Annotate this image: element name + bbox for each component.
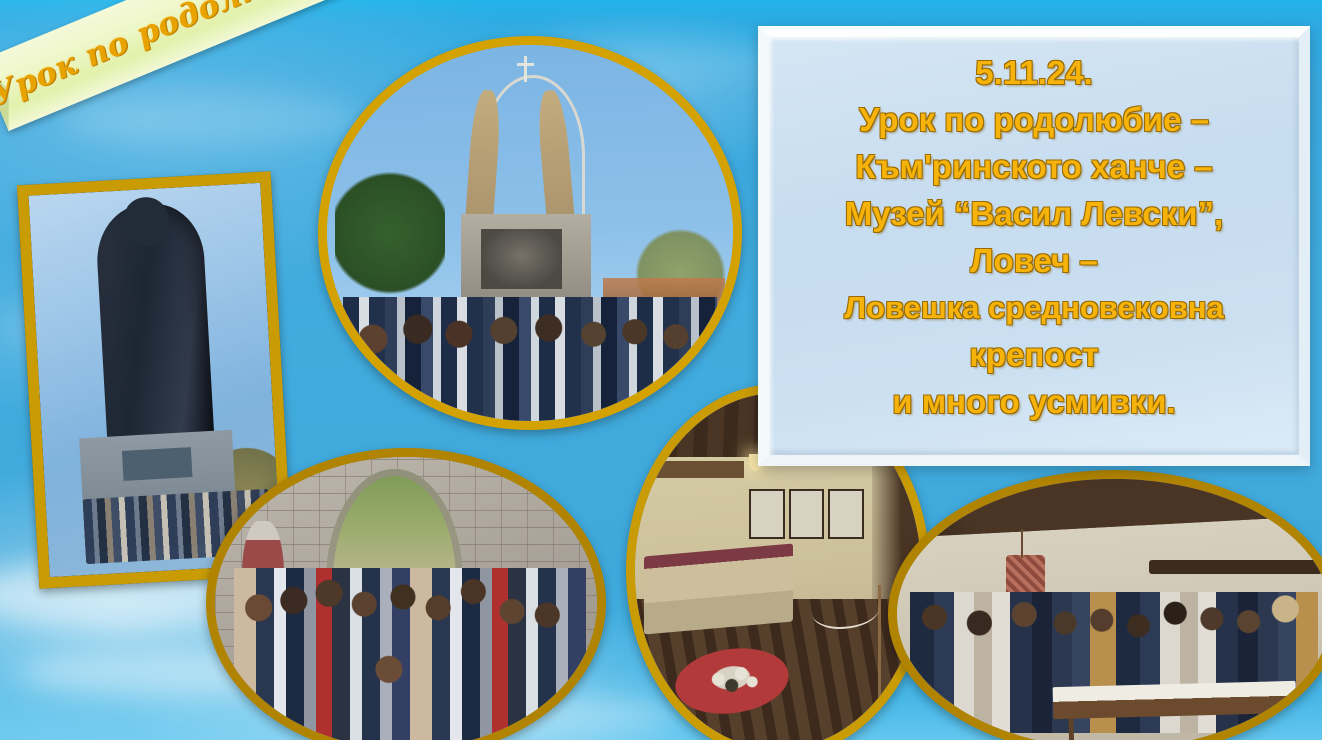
cloud-wisp	[60, 90, 360, 148]
panel-line-5: Ловешка средновековна	[844, 284, 1224, 331]
rope-barrier	[878, 585, 881, 706]
presentation-slide: Урок по родолюбие!	[0, 0, 1322, 740]
text-panel-inner: 5.11.24. Урок по родолюбие – Към'ринскот…	[769, 37, 1299, 455]
banner-label: Урок по родолюбие!	[0, 0, 350, 114]
panel-line-1: Урок по родолюбие –	[859, 96, 1209, 143]
bed	[644, 543, 793, 634]
panel-line-6: крепост	[969, 331, 1098, 378]
photo-tree-left	[335, 158, 445, 308]
photo-kakrina-monument-group	[318, 36, 742, 430]
photo-inner	[215, 457, 597, 740]
panel-line-4: Ловеч –	[970, 237, 1097, 284]
portrait-frames	[749, 489, 863, 539]
panel-line-date: 5.11.24.	[975, 49, 1092, 96]
wall-shelf	[646, 461, 743, 479]
text-panel: 5.11.24. Урок по родолюбие – Към'ринскот…	[758, 26, 1310, 466]
photo-fortress-arch-group	[206, 448, 606, 740]
panel-line-3: Музей “Васил Левски”,	[845, 190, 1223, 237]
photo-inner	[897, 479, 1322, 740]
photo-inner	[327, 45, 733, 421]
wall-rail	[1149, 560, 1322, 574]
photo-class-at-table	[888, 470, 1322, 740]
panel-line-7: и много усмивки.	[892, 378, 1175, 425]
ribbon-banner: Урок по родолюбие!	[0, 0, 356, 131]
panel-line-2: Към'ринското ханче –	[855, 143, 1212, 190]
monument-relief-portrait	[481, 229, 562, 289]
students-group	[234, 568, 585, 740]
statue-plaque	[122, 447, 193, 481]
cross-icon	[524, 56, 527, 82]
